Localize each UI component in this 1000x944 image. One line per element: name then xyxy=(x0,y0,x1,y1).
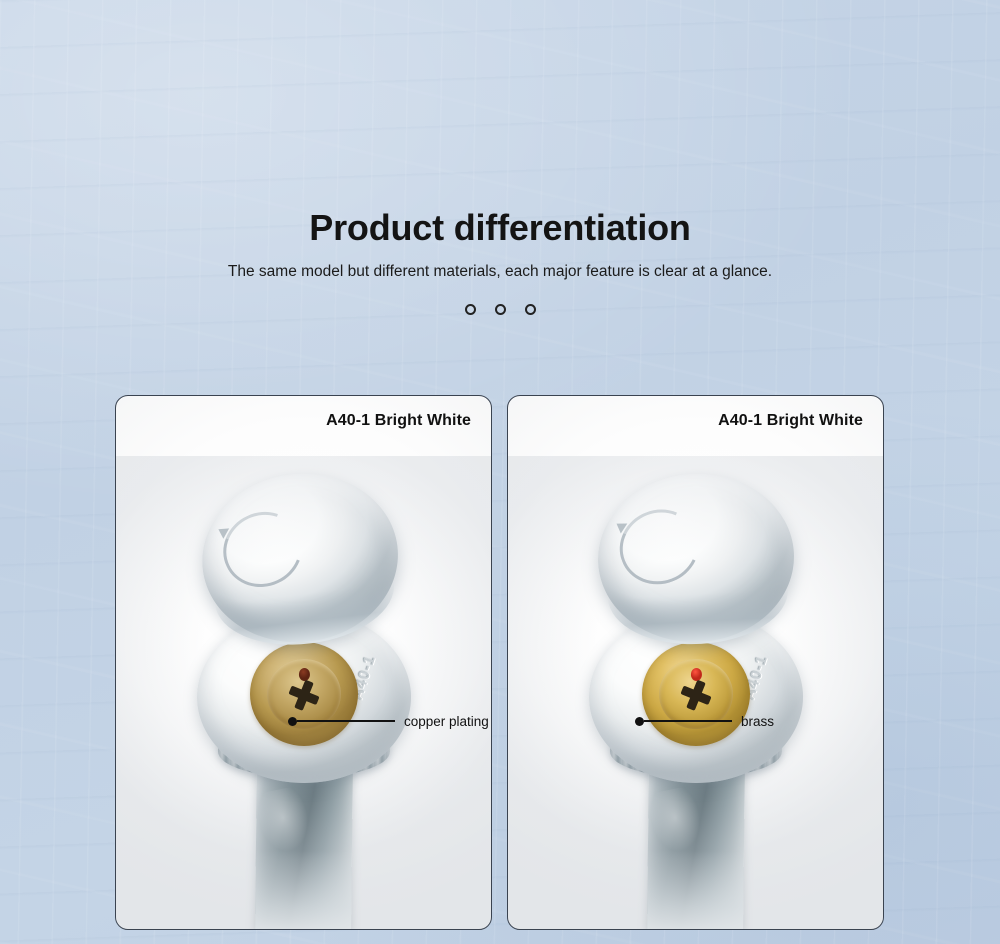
pagination-dot-1[interactable] xyxy=(465,304,476,315)
callout-brass: brass xyxy=(635,714,774,728)
cylinder-plug-copper xyxy=(250,642,358,746)
callout-dot-icon xyxy=(288,717,297,726)
product-card-right[interactable]: A40-1 Bright White A40-1 b xyxy=(507,395,884,930)
callout-copper-plating: copper plating xyxy=(288,714,489,728)
product-card-left-title: A40-1 Bright White xyxy=(326,412,471,430)
phillips-screw-icon xyxy=(679,679,713,711)
product-card-left[interactable]: A40-1 Bright White A40-1 c xyxy=(115,395,492,930)
page-header: Product differentiation The same model b… xyxy=(0,206,1000,315)
carousel-pagination[interactable] xyxy=(0,304,1000,315)
product-card-right-title: A40-1 Bright White xyxy=(718,412,863,430)
callout-label: copper plating xyxy=(404,714,489,729)
phillips-screw-icon xyxy=(287,679,321,711)
flip-cap-disc xyxy=(593,469,798,647)
callout-dot-icon xyxy=(635,717,644,726)
product-card-list: A40-1 Bright White A40-1 c xyxy=(115,395,885,930)
rotation-arrow-icon xyxy=(210,499,314,600)
callout-label: brass xyxy=(741,714,774,729)
callout-leader-line xyxy=(297,720,395,722)
product-photo-left: A40-1 copper plating xyxy=(116,456,491,930)
pagination-dot-3[interactable] xyxy=(525,304,536,315)
page-title: Product differentiation xyxy=(0,206,1000,250)
product-photo-right: A40-1 brass xyxy=(508,456,883,930)
flip-cap-disc xyxy=(192,463,407,654)
rotation-arrow-icon xyxy=(608,498,709,596)
cylinder-plug-brass xyxy=(642,642,750,746)
page-subtitle: The same model but different materials, … xyxy=(0,262,1000,282)
callout-leader-line xyxy=(644,720,732,722)
pagination-dot-2[interactable] xyxy=(495,304,506,315)
